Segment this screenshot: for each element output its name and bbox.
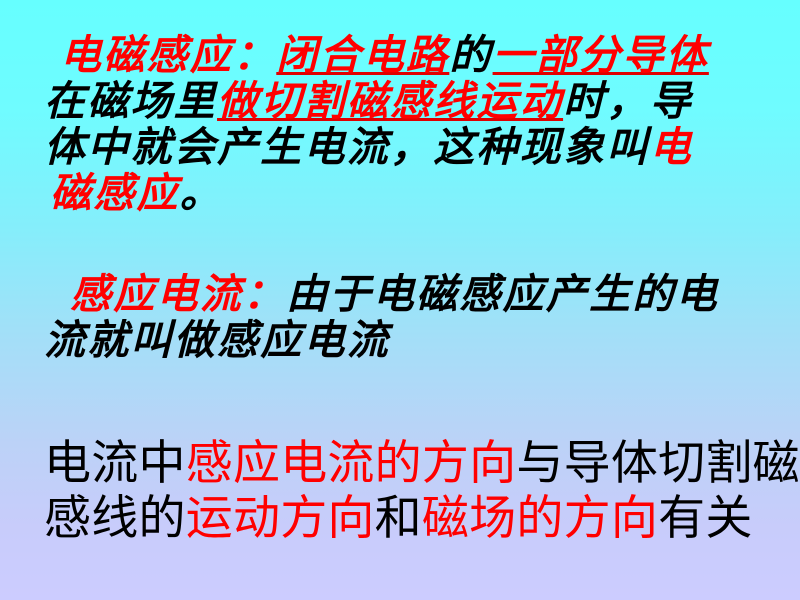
text-run: 感应电流： xyxy=(70,270,286,318)
text-run: 运动方向 xyxy=(186,491,375,546)
direction-line-1: 电流中感应电流的方向与导体切割磁 xyxy=(34,436,786,491)
text-run: 磁感应 xyxy=(50,169,180,217)
text-run: 由于电磁感应产生的电 xyxy=(286,270,719,318)
text-run: 的 xyxy=(449,31,492,79)
text-run: 在磁场里 xyxy=(44,77,217,125)
text-run: 一部分导体 xyxy=(493,31,709,79)
text-run: 电磁感应： xyxy=(60,31,276,79)
text-run: 。 xyxy=(180,169,223,217)
induced-current-line-1: 感应电流：由于电磁感应产生的电 xyxy=(34,272,786,318)
text-run: 时，导 xyxy=(563,77,693,125)
text-run: 与导体切割磁 xyxy=(516,436,799,491)
text-run: 有关 xyxy=(658,491,752,546)
definition-paragraph: 电磁感应：闭合电路的一部分导体 在磁场里做切割磁感线运动时，导 体中就会产生电流… xyxy=(0,33,800,217)
text-run: 流就叫做感应电流 xyxy=(44,316,390,364)
text-run: 磁场的方向 xyxy=(422,491,658,546)
slide-canvas: 电磁感应：闭合电路的一部分导体 在磁场里做切割磁感线运动时，导 体中就会产生电流… xyxy=(0,0,800,600)
definition-line-1: 电磁感应：闭合电路的一部分导体 xyxy=(34,33,786,79)
definition-line-2: 在磁场里做切割磁感线运动时，导 xyxy=(34,79,786,125)
text-run: 感应电流的方向 xyxy=(186,436,517,491)
text-run: 和 xyxy=(375,491,422,546)
definition-line-3: 体中就会产生电流，这种现象叫电 xyxy=(34,125,786,171)
induced-current-paragraph: 感应电流：由于电磁感应产生的电 流就叫做感应电流 xyxy=(0,272,800,364)
text-run: 电流中 xyxy=(44,436,186,491)
induced-current-line-2: 流就叫做感应电流 xyxy=(34,318,786,364)
text-run: 体中就会产生电流，这种现象叫 xyxy=(44,123,650,171)
text-run: 感线的 xyxy=(44,491,186,546)
text-run: 电 xyxy=(650,123,693,171)
text-run: 闭合电路 xyxy=(276,31,449,79)
text-run: 做切割磁感线运动 xyxy=(217,77,563,125)
direction-paragraph: 电流中感应电流的方向与导体切割磁 感线的运动方向和磁场的方向有关 xyxy=(0,436,800,547)
definition-line-4: 磁感应。 xyxy=(34,171,786,217)
direction-line-2: 感线的运动方向和磁场的方向有关 xyxy=(34,491,786,546)
